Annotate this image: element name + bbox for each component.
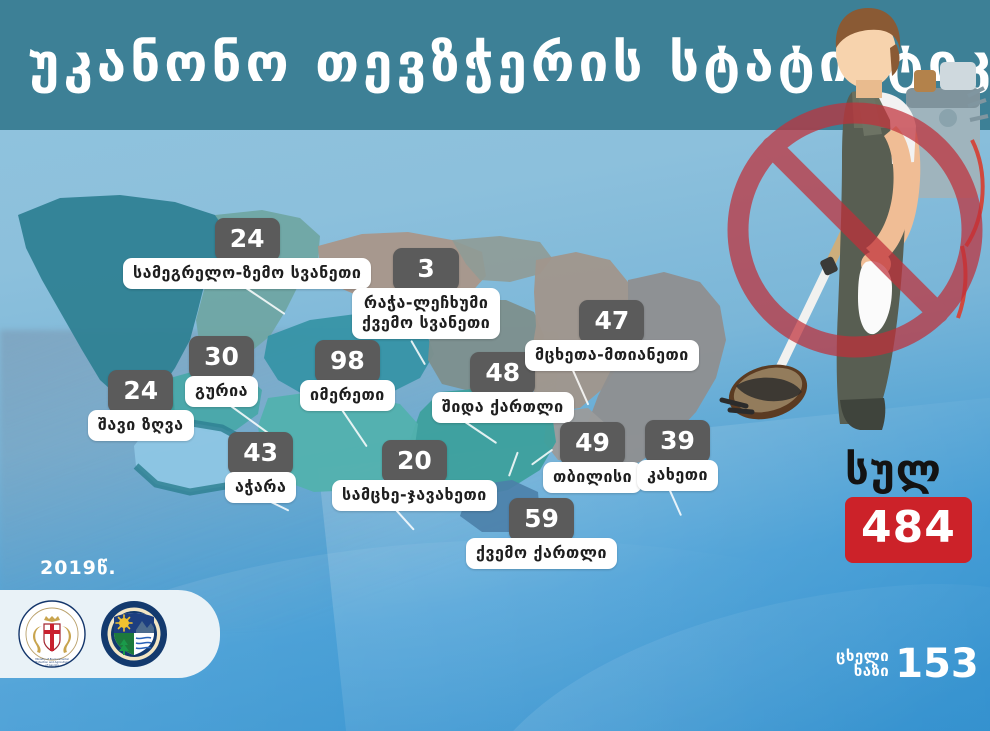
hotline-block[interactable]: ცხელი ხაზი 153 — [836, 645, 979, 683]
region-value-tbilisi: 49 — [560, 422, 625, 465]
region-callout-adjara[interactable]: 43 აჭარა — [225, 432, 296, 503]
region-name-shida-kartli: შიდა ქართლი — [432, 392, 574, 423]
region-callout-racha-lechkhumi[interactable]: 3 რაჭა-ლეჩხუმი ქვემო სვანეთი — [352, 248, 500, 339]
total-block: სულ 484 — [845, 448, 972, 563]
total-value: 484 — [845, 497, 972, 563]
region-name-kakheti: კახეთი — [637, 460, 718, 491]
region-name-tbilisi: თბილისი — [543, 462, 642, 493]
region-name-imereti: იმერეთი — [300, 380, 395, 411]
region-name-guria: გურია — [185, 376, 258, 407]
region-name-racha-line2: ქვემო სვანეთი — [362, 313, 490, 332]
region-callout-kvemo-kartli[interactable]: 59 ქვემო ქართლი — [466, 498, 617, 569]
region-value-kvemo-kartli: 59 — [509, 498, 574, 541]
hotline-label-line2: ხაზი — [854, 662, 890, 680]
illustration-illegal-fishing — [700, 0, 990, 440]
region-callout-samegrelo-zemo-svaneti[interactable]: 24 სამეგრელო-ზემო სვანეთი — [123, 218, 371, 289]
region-value-adjara: 43 — [228, 432, 293, 475]
logo-panel: Ministry of Environmental Protection and… — [0, 590, 220, 678]
infographic-root: 24 შავი ზღვა 24 სამეგრელო-ზემო სვანეთი 3… — [0, 0, 990, 731]
hotline-number: 153 — [895, 645, 979, 683]
region-name-black-sea: შავი ზღვა — [88, 410, 194, 441]
region-value-samtskhe-javakheti: 20 — [382, 440, 447, 483]
year-label: 2019წ. — [40, 557, 117, 579]
region-name-racha-line1: რაჭა-ლეჩხუმი — [364, 293, 488, 312]
region-name-kvemo-kartli: ქვემო ქართლი — [466, 538, 617, 569]
region-name-mtskheta-mtianeti: მცხეთა-მთიანეთი — [525, 340, 699, 371]
svg-text:of Georgia: of Georgia — [45, 663, 59, 667]
region-callout-black-sea[interactable]: 24 შავი ზღვა — [88, 370, 194, 441]
region-callout-imereti[interactable]: 98 იმერეთი — [300, 340, 395, 411]
supervision-department-logo — [100, 600, 168, 668]
region-value-imereti: 98 — [315, 340, 380, 383]
region-callout-mtskheta-mtianeti[interactable]: 47 მცხეთა-მთიანეთი — [525, 300, 699, 371]
region-callout-guria[interactable]: 30 გურია — [185, 336, 258, 407]
hotline-label: ცხელი ხაზი — [836, 649, 889, 679]
region-value-racha-lechkhumi: 3 — [393, 248, 458, 291]
region-name-racha-lechkhumi: რაჭა-ლეჩხუმი ქვემო სვანეთი — [352, 288, 500, 339]
region-value-samegrelo-zemo-svaneti: 24 — [215, 218, 280, 261]
region-callout-tbilisi[interactable]: 49 თბილისი — [543, 422, 642, 493]
region-value-black-sea: 24 — [108, 370, 173, 413]
region-name-samegrelo-zemo-svaneti: სამეგრელო-ზემო სვანეთი — [123, 258, 371, 289]
ministry-logo: Ministry of Environmental Protection and… — [18, 600, 86, 668]
region-value-guria: 30 — [189, 336, 254, 379]
region-value-mtskheta-mtianeti: 47 — [579, 300, 644, 343]
total-label: სულ — [845, 448, 972, 492]
